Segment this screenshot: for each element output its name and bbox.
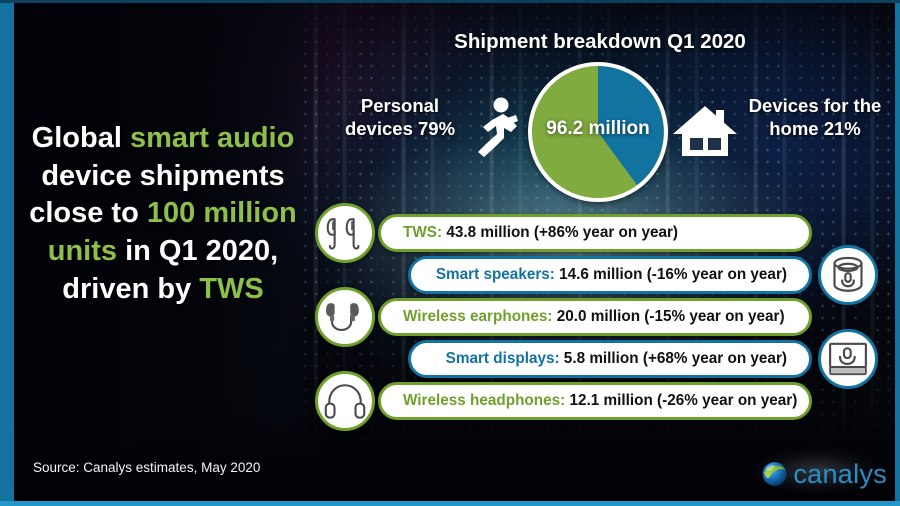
device-row-pill: Wireless earphones: 20.0 million (-15% y… [378,298,812,336]
headline-segment: smart audio [130,122,294,154]
device-row-pill: Wireless headphones: 12.1 million (-26% … [378,382,812,420]
wireless-earphones-icon [315,287,375,347]
bottom-accent-bar [0,501,900,506]
source-note: Source: Canalys estimates, May 2020 [33,460,260,475]
house-icon [672,104,738,158]
headline-segment: TWS [199,273,263,305]
device-row-text: Wireless headphones: 12.1 million (-26% … [381,392,797,410]
left-accent-bar [0,0,14,506]
pie-chart: 96.2 million [528,62,668,202]
running-person-icon [470,96,522,158]
canalys-logo: canalys [762,455,887,493]
device-row-value: 14.6 million (-16% year on year) [555,266,787,283]
device-row-value: 12.1 million (-26% year on year) [565,392,797,409]
device-row-text: TWS: 43.8 million (+86% year on year) [381,224,678,242]
device-row-label: TWS: [403,224,442,241]
pie-label-home-devices: Devices for the home 21% [740,95,890,140]
canalys-sphere-icon [762,457,787,491]
device-row-pill: TWS: 43.8 million (+86% year on year) [378,214,812,252]
wireless-headphones-icon [315,371,375,431]
chart-title: Shipment breakdown Q1 2020 [380,30,820,54]
device-row-label: Wireless earphones: [403,308,553,325]
device-row-label: Smart speakers: [436,266,555,283]
device-row-text: Wireless earphones: 20.0 million (-15% y… [381,308,785,326]
canalys-wordmark: canalys [793,461,887,488]
device-row-value: 20.0 million (-15% year on year) [553,308,785,325]
device-row-pill: Smart speakers: 14.6 million (-16% year … [408,256,812,294]
smart-display-icon [818,329,878,389]
device-row-value: 5.8 million (+68% year on year) [560,350,787,367]
smart-speaker-icon [818,245,878,305]
device-row-label: Wireless headphones: [403,392,565,409]
device-row-pill: Smart displays: 5.8 million (+68% year o… [408,340,812,378]
headline: Global smart audio device shipments clos… [18,120,308,308]
headline-segment: Global [32,122,130,154]
pie-label-personal-devices: Personal devices 79% [325,95,475,140]
device-row-text: Smart displays: 5.8 million (+68% year o… [411,350,809,368]
device-row-label: Smart displays: [446,350,560,367]
device-row-text: Smart speakers: 14.6 million (-16% year … [411,266,809,284]
infographic-canvas: Global smart audio device shipments clos… [0,0,900,506]
right-accent-bar [895,0,900,506]
device-row-value: 43.8 million (+86% year on year) [442,224,678,241]
pie-center-label: 96.2 million [528,118,668,140]
top-accent-bar [0,0,900,3]
tws-earbuds-icon [315,203,375,263]
